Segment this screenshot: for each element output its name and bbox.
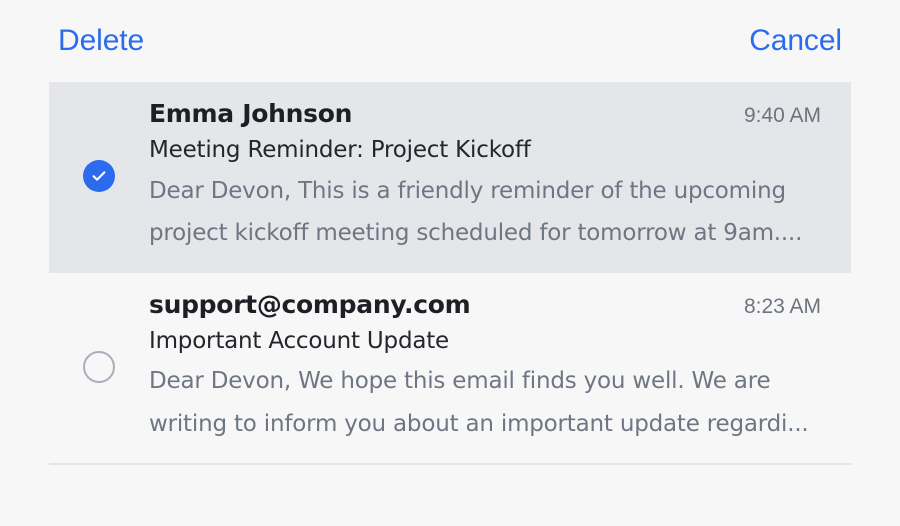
- message-subject: Important Account Update: [149, 325, 821, 358]
- message-subject: Meeting Reminder: Project Kickoff: [149, 134, 821, 167]
- message-list: Emma Johnson 9:40 AM Meeting Reminder: P…: [0, 82, 900, 465]
- message-content: support@company.com 8:23 AM Important Ac…: [149, 289, 851, 446]
- message-preview: Dear Devon, This is a friendly reminder …: [149, 170, 821, 255]
- message-preview-line: writing to inform you about an important…: [149, 403, 821, 446]
- action-toolbar: Delete Cancel: [0, 0, 900, 82]
- circle-outline-icon[interactable]: [83, 351, 115, 383]
- message-header-line: Emma Johnson 9:40 AM: [149, 98, 821, 129]
- message-sender: support@company.com: [149, 289, 470, 320]
- cancel-button[interactable]: Cancel: [749, 26, 842, 56]
- check-circle-filled-icon[interactable]: [83, 160, 115, 192]
- mail-selection-screen: Delete Cancel Emma Johnson 9:40 AM Meeti…: [0, 0, 900, 526]
- delete-button[interactable]: Delete: [58, 26, 144, 56]
- message-row[interactable]: support@company.com 8:23 AM Important Ac…: [49, 273, 851, 464]
- message-header-line: support@company.com 8:23 AM: [149, 289, 821, 320]
- selection-control-cell: [49, 351, 149, 383]
- selection-control-cell: [49, 160, 149, 192]
- message-sender: Emma Johnson: [149, 98, 352, 129]
- list-divider: [49, 463, 851, 465]
- message-row-selected[interactable]: Emma Johnson 9:40 AM Meeting Reminder: P…: [49, 82, 851, 273]
- message-timestamp: 9:40 AM: [744, 103, 821, 129]
- message-preview-line: project kickoff meeting scheduled for to…: [149, 212, 821, 255]
- message-preview-line: Dear Devon, We hope this email finds you…: [149, 360, 821, 403]
- message-preview-line: Dear Devon, This is a friendly reminder …: [149, 170, 821, 213]
- message-timestamp: 8:23 AM: [744, 294, 821, 320]
- message-preview: Dear Devon, We hope this email finds you…: [149, 360, 821, 445]
- message-content: Emma Johnson 9:40 AM Meeting Reminder: P…: [149, 98, 851, 255]
